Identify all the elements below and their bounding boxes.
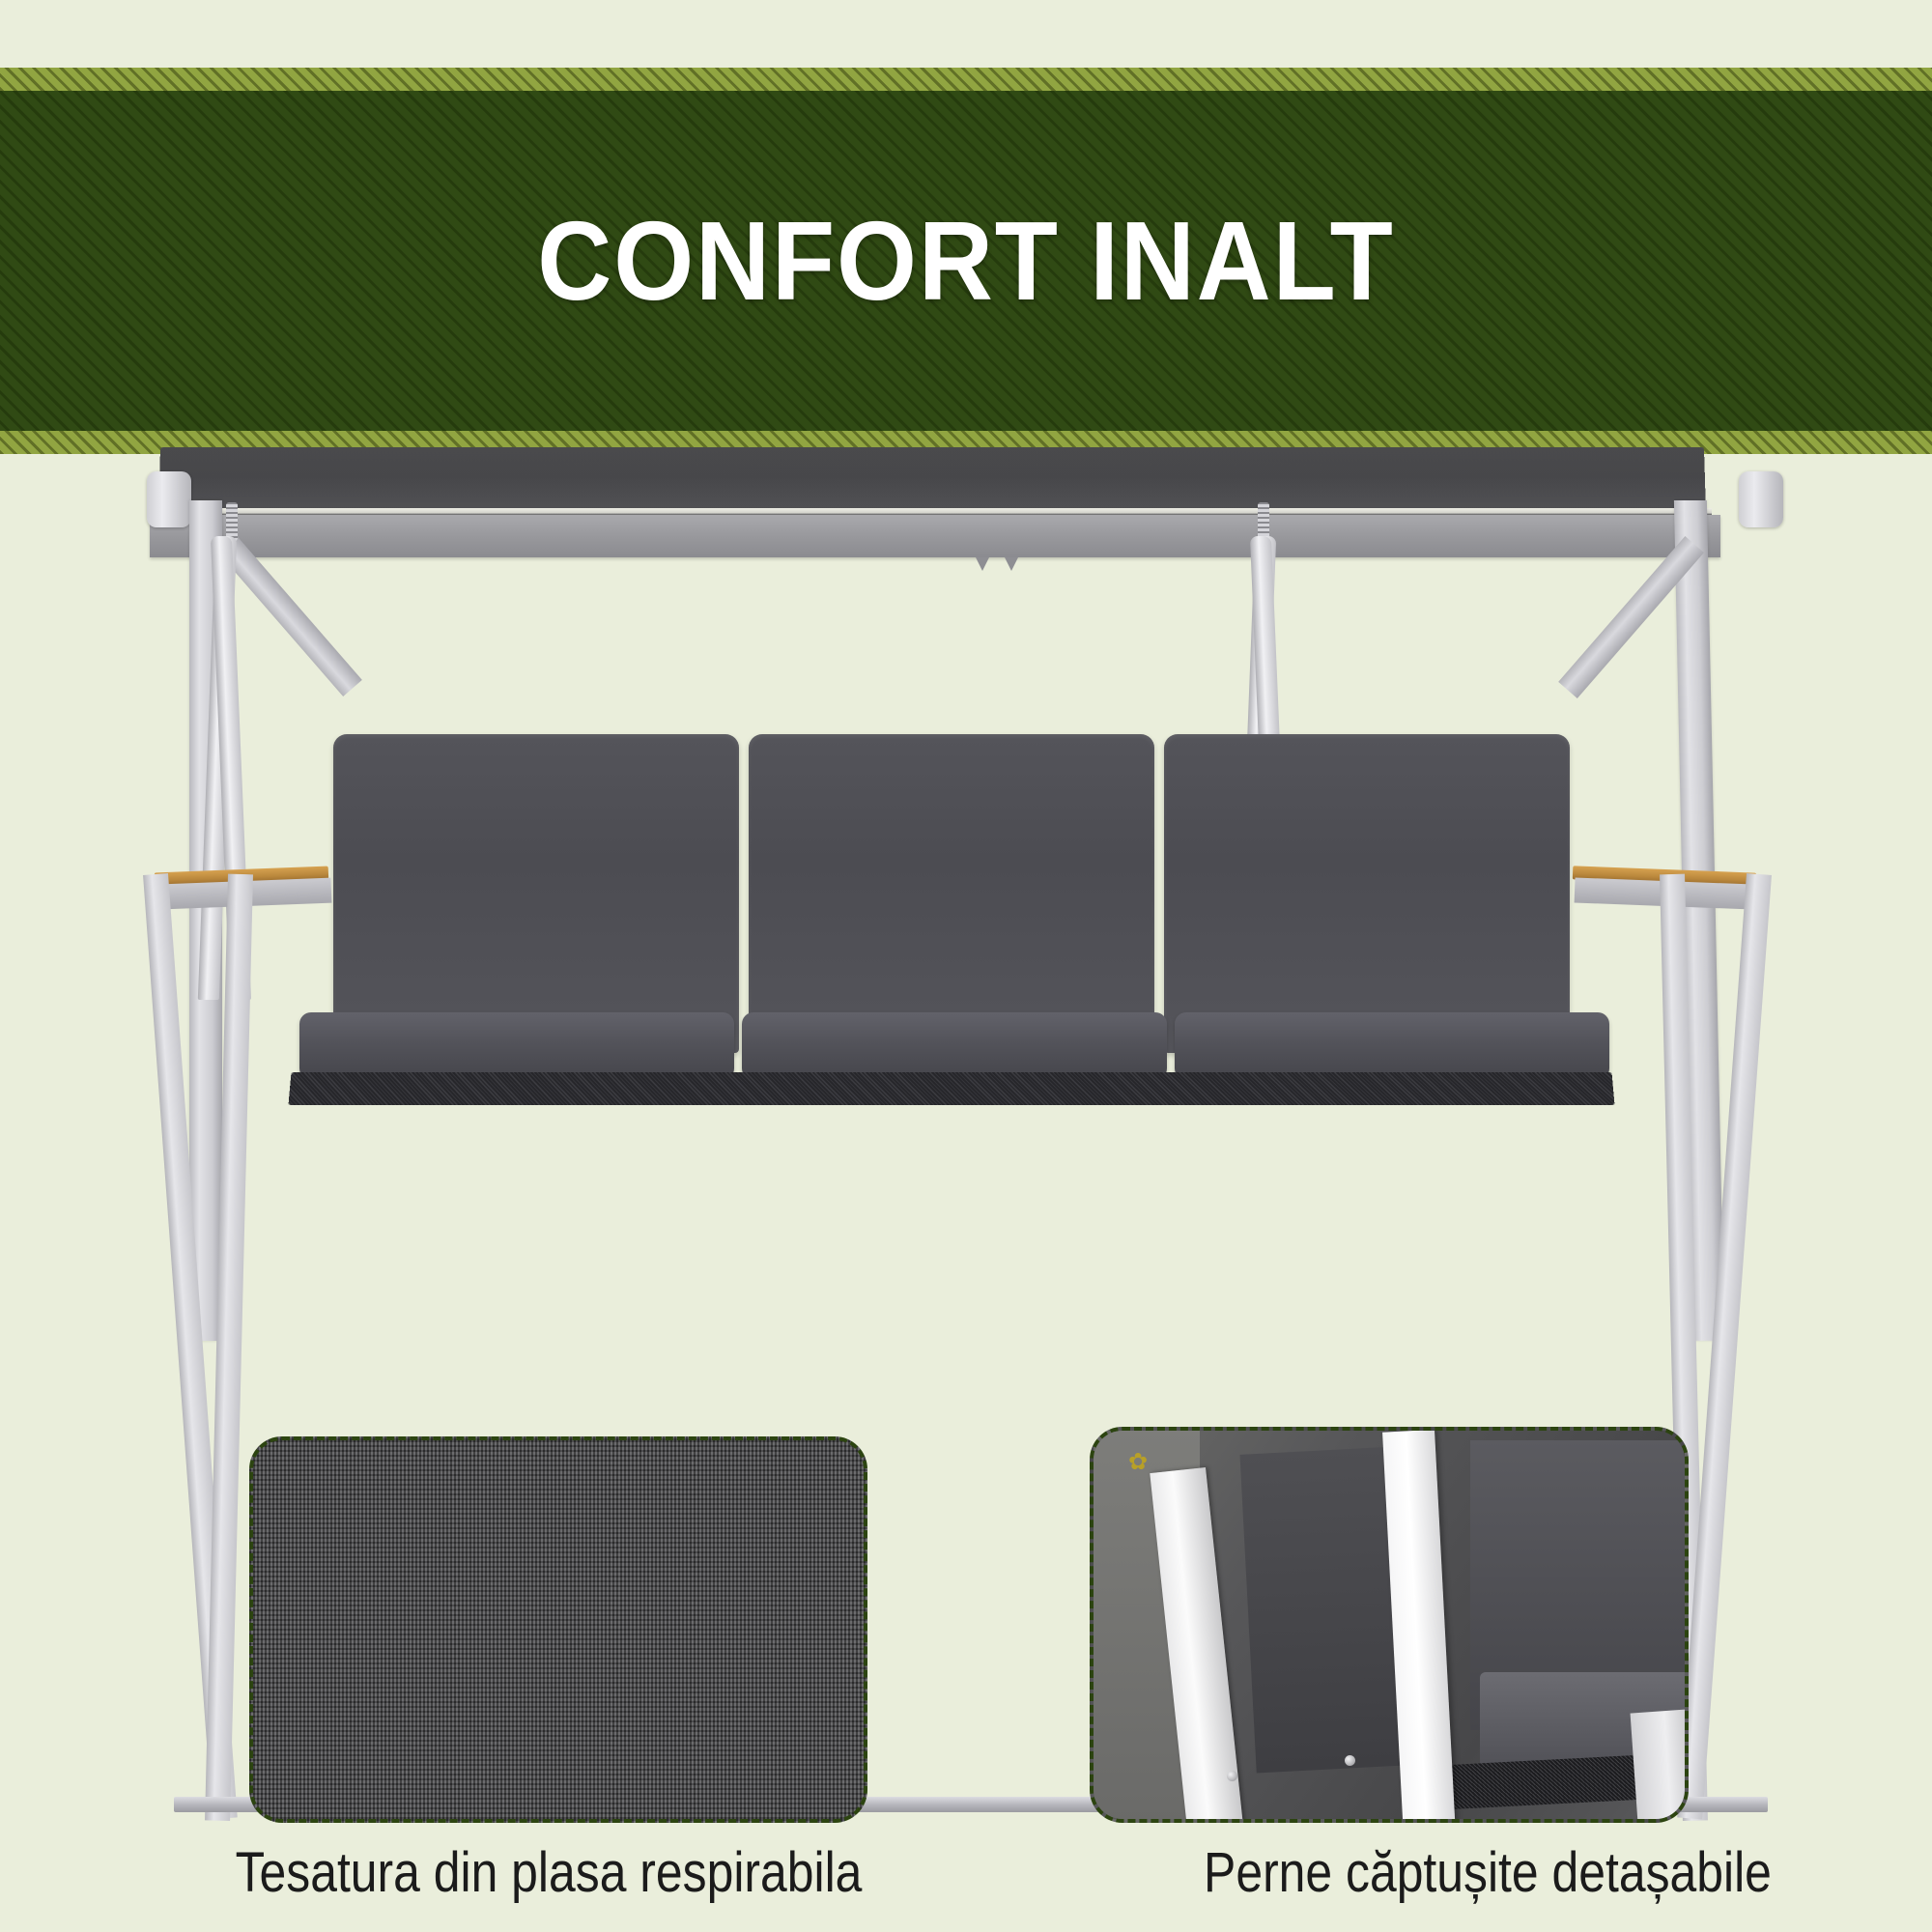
seat-base-mesh-panel: [288, 1072, 1614, 1105]
back-cushion-1: [333, 734, 739, 1053]
seat-cushion-1: [299, 1012, 734, 1080]
seat-cushion-2: [742, 1012, 1167, 1080]
photo-frame-bar-right: [1631, 1709, 1689, 1823]
feature-caption-removable-cushions: Perne căptușite detașabile: [1114, 1840, 1861, 1905]
back-cushion-2: [749, 734, 1154, 1053]
seat-cushion-3: [1175, 1012, 1609, 1080]
back-cushion-3: [1164, 734, 1570, 1053]
photo-bolt-icon: [1345, 1755, 1355, 1766]
photo-bolt-icon: [1227, 1771, 1237, 1781]
feature-inset-detail-photo: ✿: [1090, 1427, 1689, 1823]
feature-caption-mesh-fabric: Tesatura din plasa respirabila: [175, 1840, 923, 1905]
feature-inset-mesh-fabric: [249, 1436, 867, 1823]
headline-banner: CONFORT INALT: [0, 68, 1932, 454]
photo-leaf-icon: ✿: [1128, 1452, 1153, 1473]
marketing-image-canvas: CONFORT INALT: [0, 0, 1932, 1932]
banner-title: CONFORT INALT: [77, 68, 1855, 454]
